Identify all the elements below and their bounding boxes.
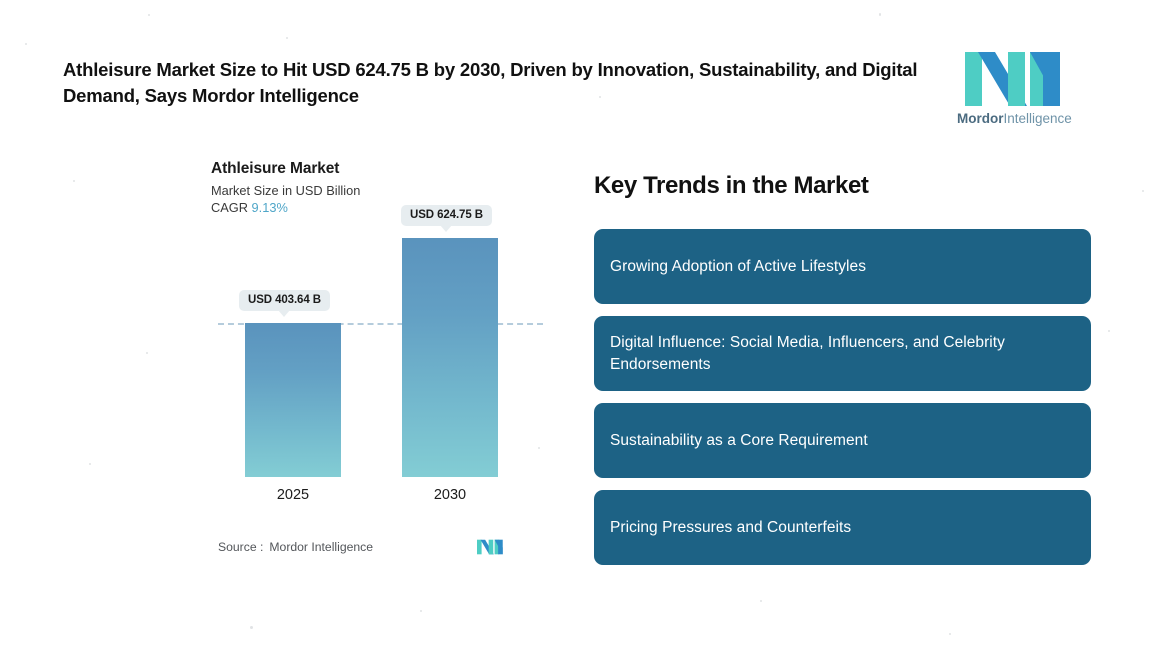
- bar-chart-plot: USD 403.64 B USD 624.75 B 2025 2030 Sour…: [211, 160, 541, 585]
- source-name: Mordor Intelligence: [269, 540, 373, 554]
- chart-panel: Athleisure Market Market Size in USD Bil…: [211, 160, 541, 585]
- brand-logo: MordorIntelligence: [957, 50, 1069, 126]
- value-label-2025: USD 403.64 B: [239, 290, 330, 311]
- bar-2030[interactable]: [402, 238, 498, 477]
- trend-card-label: Sustainability as a Core Requirement: [610, 430, 868, 451]
- bar-2025[interactable]: [245, 323, 341, 477]
- trend-card-label: Digital Influence: Social Media, Influen…: [610, 332, 1075, 375]
- trend-card[interactable]: Sustainability as a Core Requirement: [594, 403, 1091, 478]
- trend-card-label: Pricing Pressures and Counterfeits: [610, 517, 851, 538]
- speckle: [73, 180, 75, 182]
- key-trends-panel: Key Trends in the Market Growing Adoptio…: [594, 172, 1091, 577]
- trend-card[interactable]: Digital Influence: Social Media, Influen…: [594, 316, 1091, 391]
- speckle: [250, 626, 253, 629]
- speckle: [1142, 190, 1144, 192]
- speckle: [148, 14, 150, 16]
- page-title: Athleisure Market Size to Hit USD 624.75…: [63, 57, 943, 110]
- x-axis-labels: 2025 2030: [211, 487, 541, 509]
- source-label: Source :: [218, 540, 263, 554]
- speckle: [879, 13, 881, 16]
- speckle: [146, 352, 148, 354]
- speckle: [949, 633, 951, 635]
- speckle: [760, 600, 762, 602]
- mordor-intelligence-logo-icon: [477, 539, 503, 555]
- chart-source: Source : Mordor Intelligence: [218, 539, 541, 555]
- trend-card[interactable]: Pricing Pressures and Counterfeits: [594, 490, 1091, 565]
- x-tick-2030: 2030: [402, 487, 498, 503]
- trend-card-label: Growing Adoption of Active Lifestyles: [610, 256, 866, 277]
- trend-card[interactable]: Growing Adoption of Active Lifestyles: [594, 229, 1091, 304]
- x-tick-2025: 2025: [245, 487, 341, 503]
- speckle: [1108, 330, 1110, 332]
- trends-title: Key Trends in the Market: [594, 172, 1091, 200]
- speckle: [25, 43, 27, 45]
- value-label-2030: USD 624.75 B: [401, 205, 492, 226]
- mordor-intelligence-logo-icon: [965, 50, 1061, 108]
- header: Athleisure Market Size to Hit USD 624.75…: [63, 57, 943, 110]
- brand-name-light: Intelligence: [1004, 111, 1072, 126]
- brand-name-bold: Mordor: [957, 111, 1004, 126]
- brand-wordmark: MordorIntelligence: [957, 111, 1069, 126]
- speckle: [89, 463, 91, 465]
- speckle: [420, 610, 422, 612]
- speckle: [286, 37, 288, 39]
